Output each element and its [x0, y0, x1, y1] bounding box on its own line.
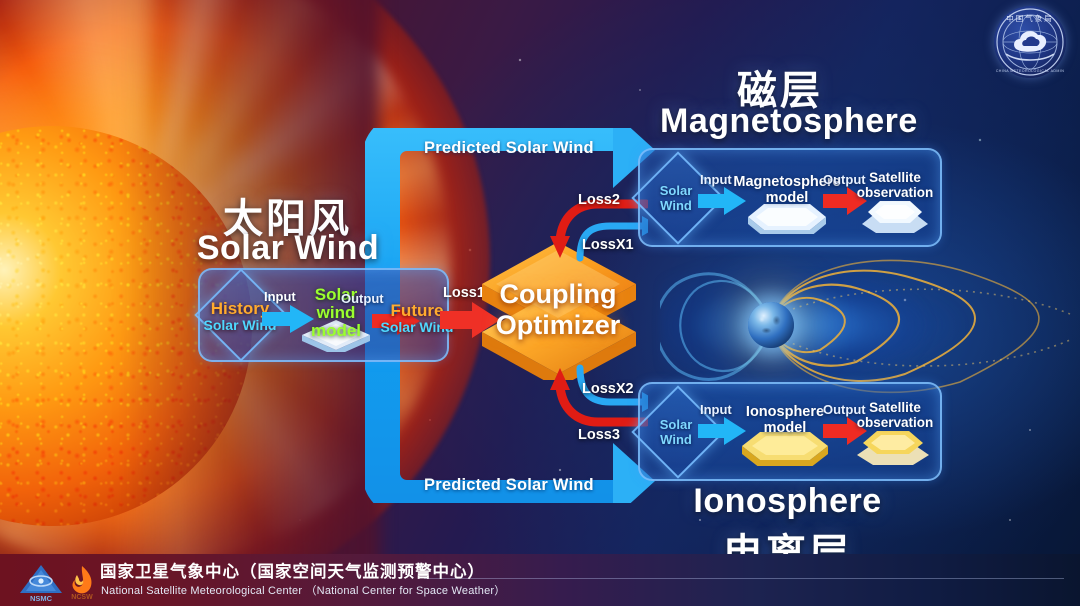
- diagram-canvas: Predicted Solar Wind Predicted Solar Win…: [0, 0, 1080, 606]
- ncsw-logo-text: NCSW: [71, 594, 93, 601]
- footer-divider: [424, 578, 1064, 579]
- cma-logo: 中国气象局 CHINA METEOROLOGICAL ADMIN: [994, 6, 1066, 78]
- cma-logo-cn-text: 中国气象局: [1006, 13, 1054, 23]
- loss3-label: Loss3: [578, 427, 620, 443]
- lossx1-label: LossX1: [582, 237, 634, 253]
- lossx2-label: LossX2: [582, 381, 634, 397]
- ionosphere-title-en: Ionosphere: [690, 482, 885, 521]
- footer-org-cn: 国家卫星气象中心（国家空间天气监测预警中心）: [100, 558, 485, 582]
- loop-bottom-label: Predicted Solar Wind: [424, 476, 594, 495]
- loop-top-label: Predicted Solar Wind: [424, 139, 594, 158]
- mag-input-label: Input: [700, 172, 732, 187]
- earth-surface: [748, 302, 794, 348]
- coupling-optimizer-label: Coupling Optimizer: [478, 279, 638, 341]
- loss2-label: Loss2: [578, 192, 620, 208]
- ncsw-logo-icon: NCSW: [62, 563, 102, 601]
- solar-wind-title-en: Solar Wind: [178, 229, 398, 268]
- sw-input-label: Input: [264, 289, 296, 304]
- mag-satellite-obs-slab-icon: [858, 199, 932, 235]
- earth: [748, 302, 794, 348]
- magnetosphere-title-en: Magnetosphere: [660, 102, 900, 141]
- ion-satellite-obs-label: Satellite observation: [850, 400, 940, 430]
- footer-bar: NSMC NCSW 国家卫星气象中心（国家空间天气监测预警中心） Nationa…: [0, 554, 1080, 606]
- mag-satellite-obs-label: Satellite observation: [852, 170, 938, 200]
- nsmc-logo-text: NSMC: [30, 594, 53, 602]
- bottom-loss-arrows: [528, 362, 648, 434]
- ion-input-label: Input: [700, 402, 732, 417]
- nsmc-logo-icon: NSMC: [18, 562, 64, 602]
- footer-org-en: National Satellite Meteorological Center…: [101, 582, 505, 598]
- cma-logo-en-text: CHINA METEOROLOGICAL ADMIN: [996, 69, 1064, 73]
- cma-logo-mark-icon: 中国气象局 CHINA METEOROLOGICAL ADMIN: [994, 6, 1066, 78]
- ion-satellite-obs-slab-icon: [855, 429, 935, 467]
